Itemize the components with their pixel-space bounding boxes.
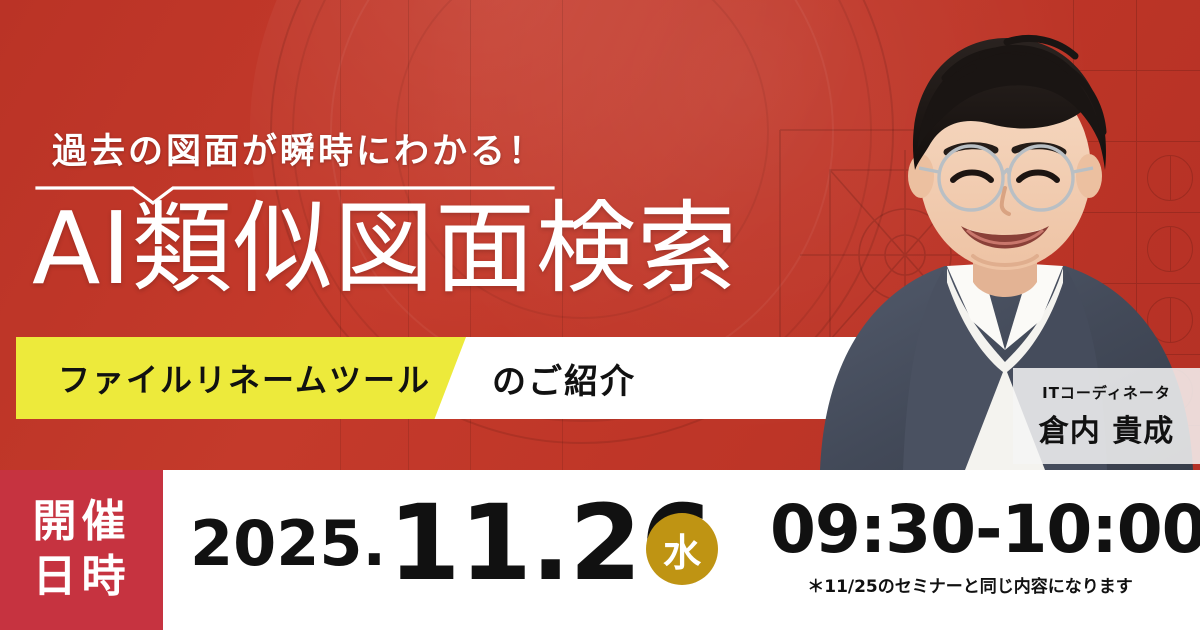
event-time: 09:30-10:00 (770, 497, 1170, 563)
day-of-week-label: 水 (663, 522, 701, 577)
schedule-badge-line2: 日時 (33, 550, 131, 605)
event-date: 2025. 11.26 (190, 478, 712, 608)
webinar-banner: 過去の図面が瞬時にわかる！ AI類似図面検索 ファイルリネームツール のご紹介 (0, 0, 1200, 630)
page-title: AI類似図面検索 (32, 196, 738, 302)
speaker-nameplate: ITコーディネータ 倉内 貴成 (1013, 368, 1200, 464)
banner-subtitle: 過去の図面が瞬時にわかる！ (52, 123, 546, 174)
schedule-badge: 開催 日時 (0, 470, 163, 630)
speaker-role: ITコーディネータ (1042, 382, 1171, 403)
day-of-week-badge: 水 (646, 513, 718, 585)
schedule-badge-line1: 開催 (33, 495, 131, 550)
event-time-block: 09:30-10:00 ＊11/25のセミナーと同じ内容になります (770, 497, 1170, 597)
event-note: ＊11/25のセミナーと同じ内容になります (770, 572, 1170, 597)
speaker-name: 倉内 貴成 (1039, 406, 1174, 450)
event-year: 2025. (190, 507, 386, 580)
ribbon-suffix-label: のご紹介 (492, 337, 636, 419)
ribbon-highlight-label: ファイルリネームツール (58, 337, 431, 419)
